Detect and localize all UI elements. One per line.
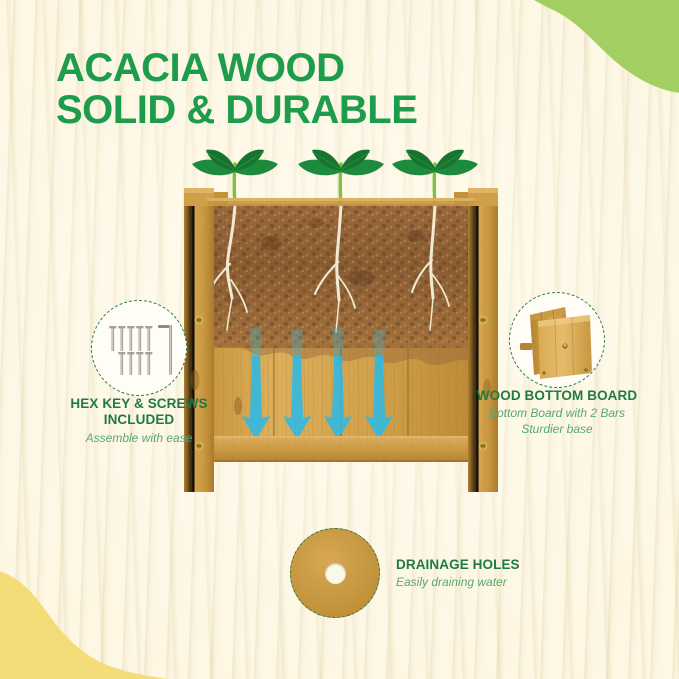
screws-top-row [109, 326, 152, 351]
drainage-hole-disc-icon [290, 528, 380, 618]
screws-bottom-row [118, 352, 152, 375]
feature-title-line-2: INCLUDED [104, 412, 175, 427]
feature-subtitle-hexkey: Assemble with ease [26, 431, 252, 447]
planter-top-rail [207, 198, 475, 206]
title-line-1: ACACIA WOOD [56, 48, 417, 90]
feature-subtitle-board: Bottom Board with 2 Bars Sturdier base [452, 406, 662, 437]
bottom-board-badge [509, 292, 605, 388]
drainage-text-block: DRAINAGE HOLES Easily draining water [396, 555, 520, 591]
feature-wood-bottom-board: WOOD BOTTOM BOARD Bottom Board with 2 Ba… [452, 292, 662, 438]
front-board [538, 315, 592, 379]
drainage-hole [325, 563, 346, 584]
feature-title-hexkey: HEX KEY & SCREWS INCLUDED [26, 396, 252, 429]
feature-hex-key-and-screws: HEX KEY & SCREWS INCLUDED Assemble with … [26, 300, 252, 447]
page-title: ACACIA WOOD SOLID & DURABLE [56, 48, 417, 131]
hex-key-and-screws-icon [92, 301, 188, 397]
support-bar [520, 343, 532, 350]
yellow-blob-decoration [0, 553, 183, 679]
hex-key-tool [158, 325, 172, 375]
feature-title-board: WOOD BOTTOM BOARD [452, 388, 662, 404]
feature-drainage-holes: DRAINAGE HOLES Easily draining water [290, 528, 550, 618]
feature-subtitle-line-1: Bottom Board with 2 Bars [489, 406, 625, 420]
wood-bottom-board-icon [510, 293, 606, 389]
feature-title-line-1: HEX KEY & SCREWS [70, 396, 207, 411]
feature-subtitle-drainage: Easily draining water [396, 575, 520, 591]
feature-title-drainage: DRAINAGE HOLES [396, 557, 520, 573]
green-blob-decoration [531, 0, 679, 93]
title-line-2: SOLID & DURABLE [56, 90, 417, 132]
feature-subtitle-line-2: Sturdier base [521, 422, 592, 436]
infographic-canvas: ACACIA WOOD SOLID & DURABLE [0, 0, 679, 679]
hex-key-badge [91, 300, 187, 396]
